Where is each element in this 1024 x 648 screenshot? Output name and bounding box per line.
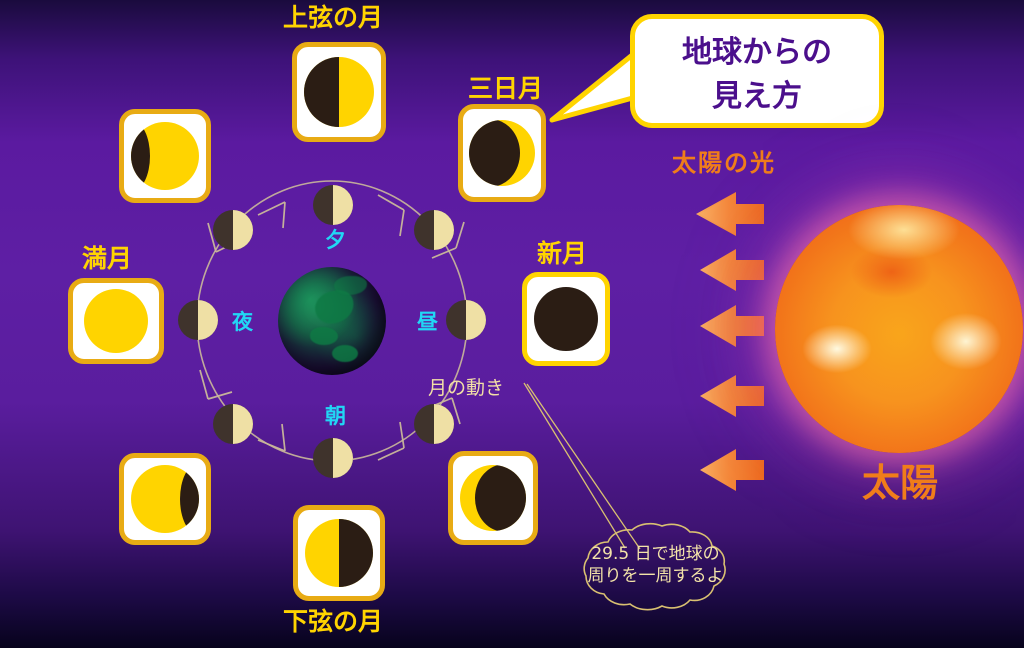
orbit-moon-waxing-gibbous (213, 210, 253, 250)
phase-label-new-moon: 新月 (537, 240, 587, 269)
earth-time-evening: 夕 (325, 228, 346, 252)
moon-shadow (304, 57, 339, 127)
moon-art-waxing-gibbous (131, 122, 199, 190)
orbit-moon-waning-gibbous (213, 404, 253, 444)
earth-globe (278, 267, 386, 375)
orbit-moon-lit-half (233, 210, 253, 250)
orbit-moon-waxing-crescent (414, 210, 454, 250)
phase-card-waxing-gibbous[interactable] (119, 109, 211, 203)
orbit-moon-full (178, 300, 218, 340)
view-from-earth-line1: 地球からの (682, 27, 832, 71)
earth-time-day: 昼 (417, 310, 438, 334)
moon-shadow (131, 122, 150, 190)
sun-sphere (775, 205, 1023, 453)
phase-card-last-quarter[interactable] (293, 505, 385, 601)
phase-card-new-moon[interactable] (522, 272, 610, 366)
view-from-earth-line2: 見え方 (712, 71, 802, 115)
continent-southeast-asia (310, 327, 338, 344)
orbit-moon-lit-half (333, 438, 353, 478)
orbit-moon-lit-half (333, 185, 353, 225)
continent-north (334, 276, 366, 295)
moon-art-first-quarter (304, 57, 374, 127)
moon-phases-diagram: 夕 夜 昼 朝 (0, 0, 1024, 648)
sunlight-label: 太陽の光 (672, 150, 776, 178)
orbit-moon-new (446, 300, 486, 340)
moon-art-waning-gibbous (131, 465, 199, 533)
moon-art-new-moon (534, 287, 598, 351)
earth-time-night: 夜 (232, 310, 253, 334)
phase-card-first-quarter[interactable] (292, 42, 386, 142)
sun-label: 太陽 (862, 462, 938, 506)
orbit-period-line2: 周りを一周するよ (548, 566, 763, 588)
moon-shadow (469, 120, 520, 186)
orbit-moon-waning-crescent (414, 404, 454, 444)
orbit-moon-lit-half (198, 300, 218, 340)
phase-card-waxing-crescent[interactable] (458, 104, 546, 202)
phase-card-waning-gibbous[interactable] (119, 453, 211, 545)
phase-label-last-quarter: 下弦の月 (283, 608, 383, 637)
moon-motion-label: 月の動き (428, 378, 504, 400)
orbit-period-cloud-bubble: 29.5 日で地球の 周りを一周するよ (548, 520, 763, 625)
orbit-moon-lit-half (434, 210, 454, 250)
speech-bubble-tail (552, 52, 640, 120)
moon-art-last-quarter (305, 519, 373, 587)
moon-art-waxing-crescent (469, 120, 535, 186)
continent-australia (332, 345, 358, 362)
moon-art-waning-crescent (460, 465, 526, 531)
phase-card-waning-crescent[interactable] (448, 451, 538, 545)
orbit-moon-last-quarter (313, 438, 353, 478)
phase-label-full-moon: 満月 (82, 245, 132, 274)
moon-art-full-moon (84, 289, 148, 353)
moon-shadow (475, 465, 526, 531)
orbit-moon-lit-half (434, 404, 454, 444)
orbit-period-line1: 29.5 日で地球の (548, 544, 763, 566)
arrow-group (696, 192, 764, 491)
orbit-moon-lit-half (466, 300, 486, 340)
phase-card-full-moon[interactable] (68, 278, 164, 364)
moon-shadow (339, 519, 373, 587)
phase-label-waxing-crescent: 三日月 (468, 75, 543, 104)
moon-shadow (180, 465, 199, 533)
view-from-earth-bubble: 地球からの 見え方 (630, 14, 884, 128)
phase-label-first-quarter: 上弦の月 (283, 4, 383, 33)
orbit-period-text: 29.5 日で地球の 周りを一周するよ (548, 544, 763, 588)
orbit-moon-lit-half (233, 404, 253, 444)
earth-time-morning: 朝 (325, 404, 346, 428)
orbit-moon-first-quarter (313, 185, 353, 225)
